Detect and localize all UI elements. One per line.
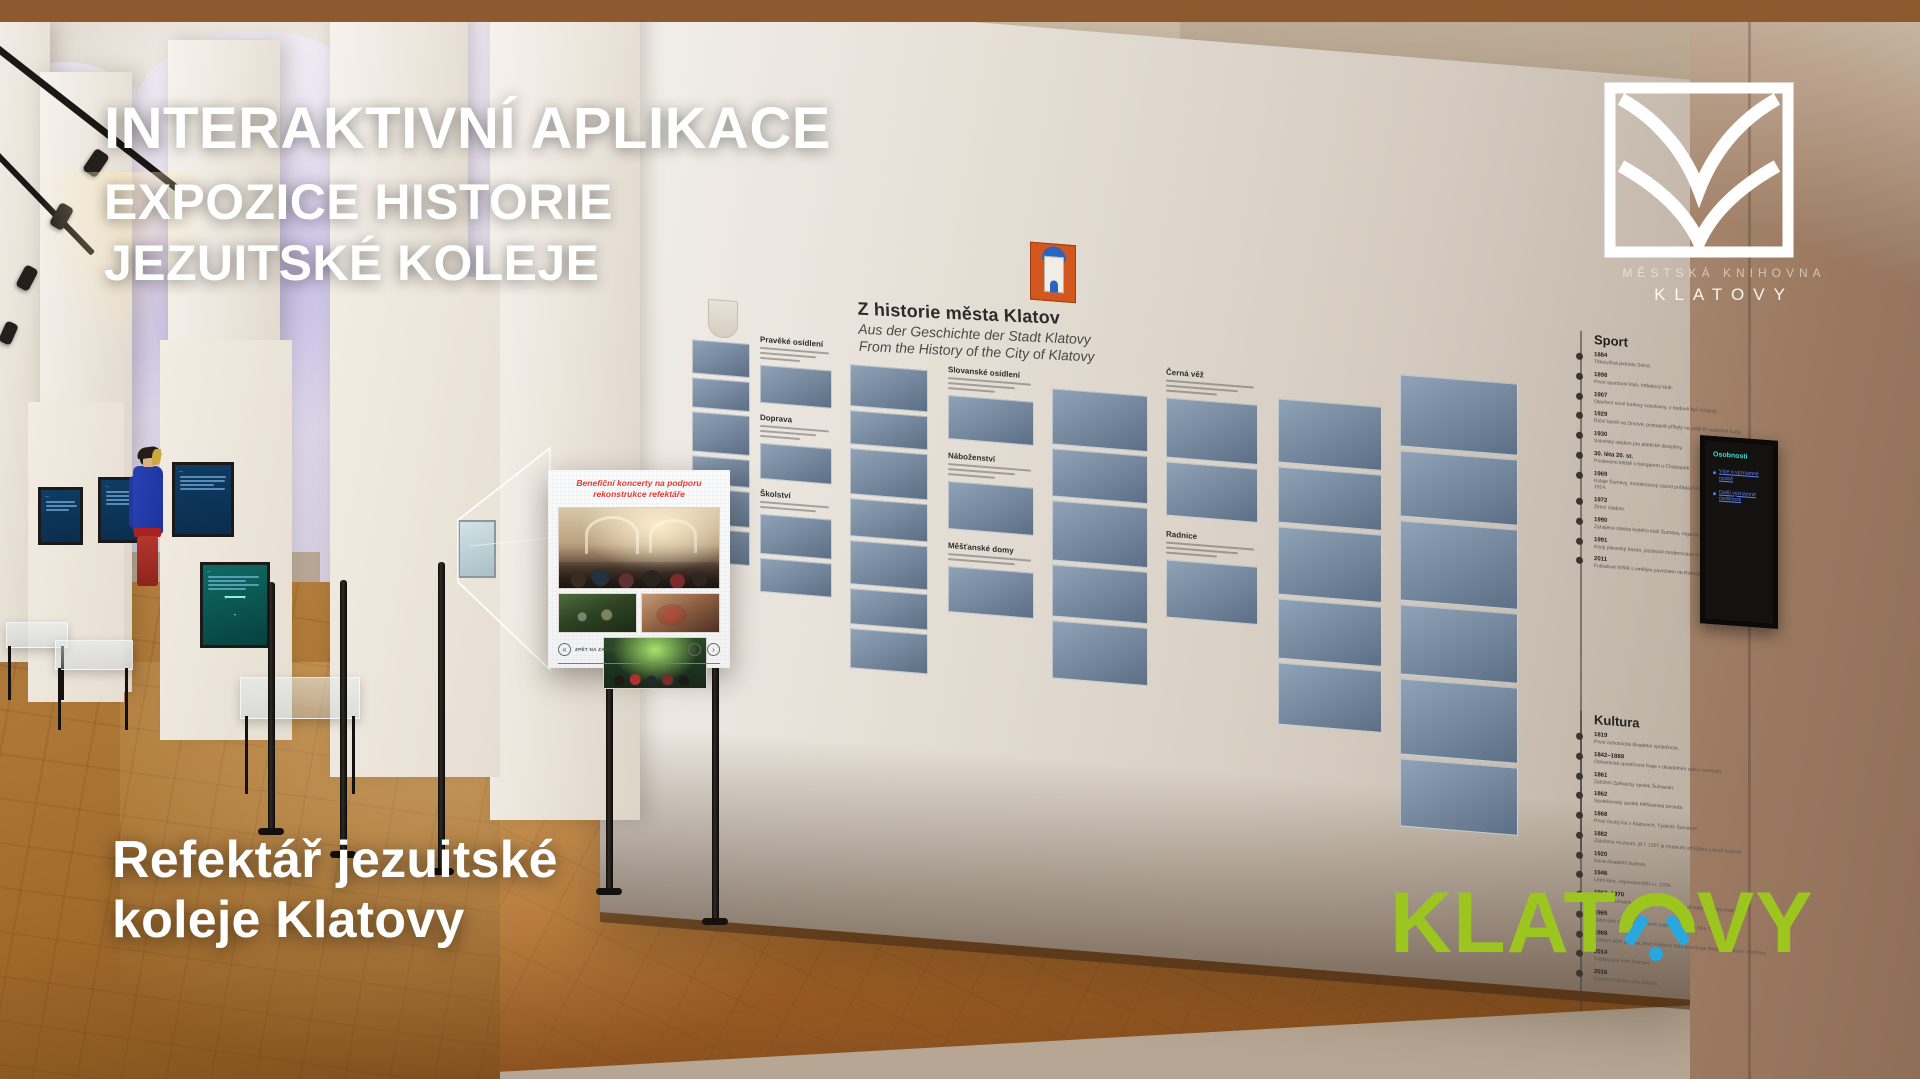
exhibit-info-screen[interactable]: — [38, 487, 83, 545]
wall-column [1278, 399, 1382, 737]
subtitle-line-2: koleje Klatovy [112, 890, 558, 950]
arch-chevron-dot-mark-icon [1619, 887, 1695, 959]
timeline-dot-icon [1576, 812, 1583, 820]
headline-line-3: JEZUITSKÉ KOLEJE [104, 234, 831, 293]
display-case-legs [245, 716, 355, 794]
monitor-link-item[interactable]: Další významné osobnosti [1713, 489, 1765, 506]
app-photo-row [558, 593, 720, 633]
timeline-dot-icon [1576, 498, 1583, 506]
headline-line-1: INTERAKTIVNÍ APLIKACE [104, 98, 831, 161]
timeline-dot-icon [1576, 392, 1583, 400]
stanchion-pole [340, 580, 347, 855]
timeline-dot-icon [1576, 752, 1583, 760]
stanchion-base [596, 888, 622, 895]
timeline-dot-icon [1576, 733, 1583, 741]
wall-monitor-osobnosti[interactable]: Osobnosti Více o významné osobě Další vý… [1700, 435, 1778, 629]
wall-column [1052, 388, 1148, 690]
timeline-dot-icon [1576, 372, 1583, 380]
app-thumb-photo[interactable] [641, 593, 720, 633]
wall-column: Slovanské osídlení Náboženství Měšťanské… [948, 365, 1034, 623]
crest-badge-icon [224, 596, 246, 616]
library-logo: MĚSTSKÁ KNIHOVNA KLATOVY [1604, 82, 1844, 305]
display-case-legs [58, 668, 128, 730]
wall-column [850, 364, 928, 678]
wall-column [1400, 374, 1518, 839]
timeline-dot-icon [1576, 537, 1583, 545]
timeline-dot-icon [1576, 432, 1583, 440]
wall-panel-title: Z historie města Klatov Aus der Geschich… [857, 299, 1199, 370]
back-to-start-label: ZPĚT NA ZAČÁTEK [575, 647, 622, 652]
timeline-dot-icon [1576, 517, 1583, 525]
poster-stage: Z historie města Klatov Aus der Geschich… [0, 0, 1920, 1079]
chevron-right-icon[interactable]: › [707, 643, 720, 656]
app-thumb-photo[interactable] [558, 593, 637, 633]
monitor-link-item[interactable]: Více o významné osobě [1713, 468, 1765, 485]
app-screen-title: Benefiční koncerty na podporu rekonstruk… [558, 478, 720, 501]
city-logo-part2: VY [1697, 880, 1814, 966]
timeline-dot-icon [1576, 451, 1583, 459]
display-case [55, 640, 133, 670]
app-title-line2: rekonstrukce refektáře [593, 489, 685, 499]
wall-column: Pravěké osídlení Doprava Školství [760, 335, 832, 602]
app-screen-callout[interactable]: Benefiční koncerty na podporu rekonstruk… [548, 470, 730, 668]
stanchion-pole [268, 582, 275, 832]
city-logo: KLAT VY [1390, 880, 1814, 966]
timeline-dot-icon [1576, 353, 1583, 361]
headline-line-2: EXPOZICE HISTORIE [104, 173, 831, 232]
top-accent-bar [0, 0, 1920, 22]
chevron-double-left-icon[interactable]: « [558, 643, 571, 656]
exhibit-info-screen[interactable]: — [172, 462, 234, 537]
wall-column: Černá věž Radnice [1166, 368, 1258, 629]
exhibit-info-screen-teal[interactable]: — [200, 562, 270, 648]
headline-block: INTERAKTIVNÍ APLIKACE EXPOZICE HISTORIE … [104, 98, 831, 293]
library-logo-line1: MĚSTSKÁ KNIHOVNA [1604, 266, 1844, 280]
app-nav-rule [558, 663, 720, 665]
subtitle-line-1: Refektář jezuitské [112, 830, 558, 890]
back-to-start-button[interactable]: « ZPĚT NA ZAČÁTEK [558, 643, 622, 656]
timeline-dot-icon [1576, 851, 1583, 859]
kiosk-screen-small[interactable] [458, 520, 496, 578]
klatovy-coat-of-arms [1030, 242, 1076, 304]
city-logo-part1: KLAT [1390, 880, 1617, 966]
stanchion-base [702, 918, 728, 925]
historical-uniform-mannequin [132, 450, 164, 602]
monitor-title: Osobnosti [1713, 451, 1765, 462]
chevron-left-icon[interactable]: ‹ [688, 643, 701, 656]
app-title-line1: Benefiční koncerty na podporu [576, 478, 701, 488]
library-logo-line2: KLATOVY [1604, 285, 1844, 305]
bullet-icon [1713, 471, 1716, 474]
secondary-crest [708, 299, 738, 339]
bullet-icon [1713, 492, 1716, 495]
app-hero-photo[interactable] [558, 507, 720, 589]
subtitle-block: Refektář jezuitské koleje Klatovy [112, 830, 558, 951]
stanchion-pole [438, 562, 445, 872]
timeline-dot-icon [1576, 772, 1583, 780]
app-navigation-bar: « ZPĚT NA ZAČÁTEK ‹ › [558, 643, 720, 656]
app-prev-next-group: ‹ › [688, 643, 720, 656]
timeline-dot-icon [1576, 471, 1583, 479]
timeline-dot-icon [1576, 831, 1583, 839]
open-book-m-mark-icon [1604, 82, 1794, 258]
